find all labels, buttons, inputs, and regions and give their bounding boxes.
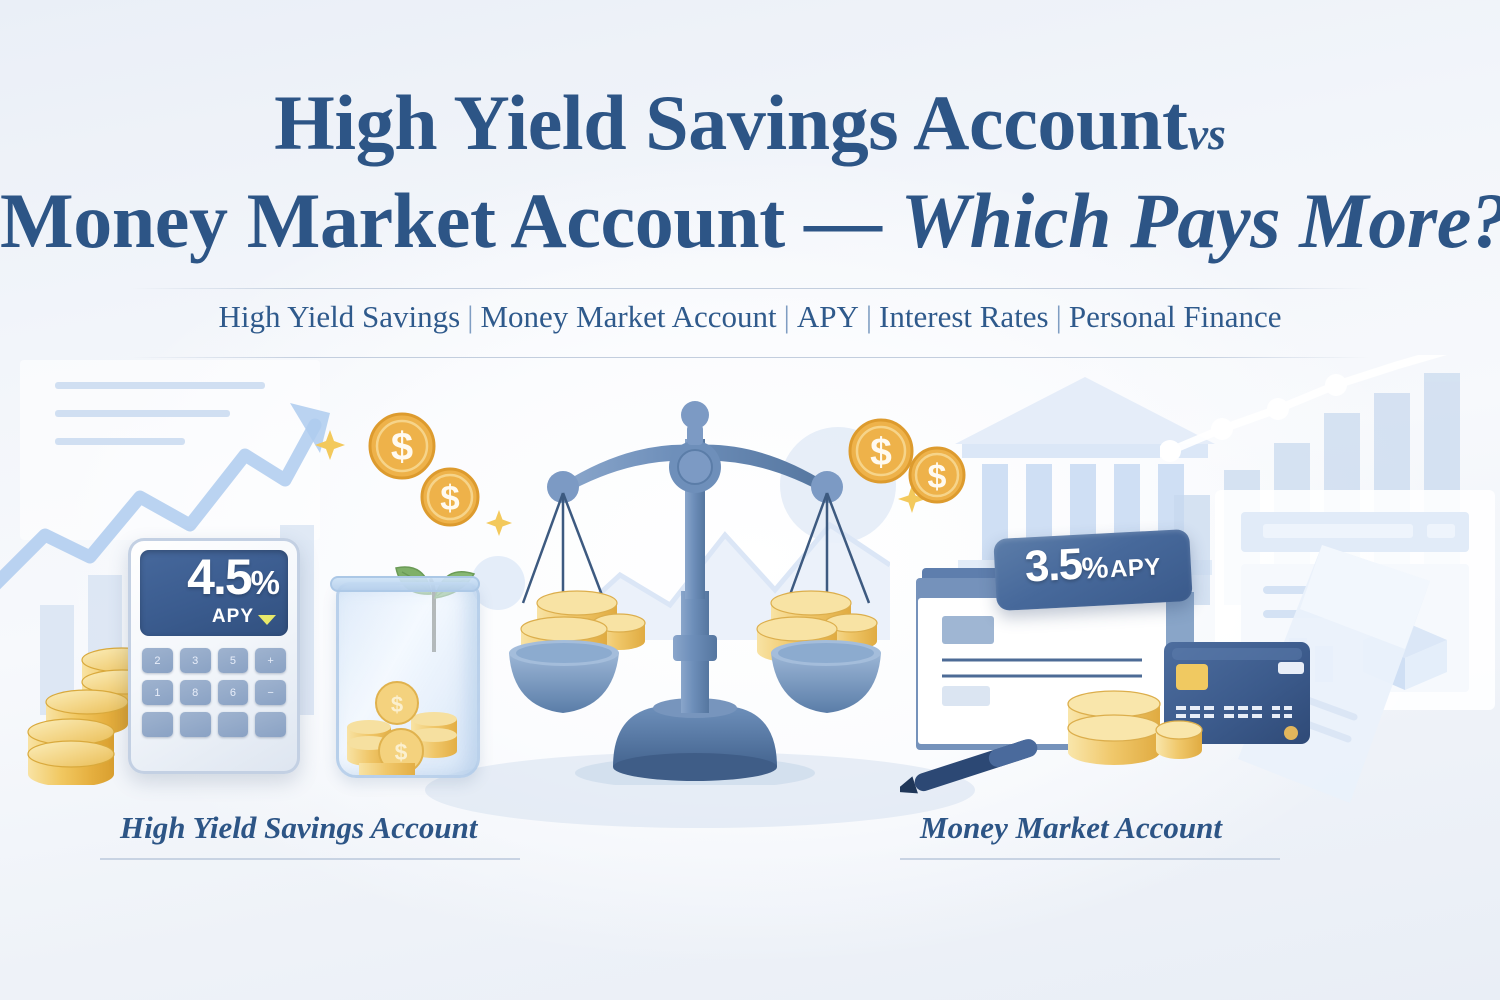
rate-tablet-panel: 3.5%APY [993, 529, 1192, 611]
calculator-apy-label: APY [212, 606, 254, 628]
dollar-coin-icon: $ [848, 418, 914, 484]
infographic-canvas: High Yield Savings Accountvs Money Marke… [0, 0, 1500, 1000]
calculator-screen: 4.5% APY [140, 550, 288, 636]
tagline-rule-bottom [130, 357, 1370, 358]
calculator-rate-display: 4.5% [140, 552, 278, 602]
chevron-down-icon [256, 612, 278, 628]
right-caption-underline [900, 858, 1280, 860]
jar-lid-rim [330, 576, 480, 592]
tag-sep-1: | [777, 299, 797, 334]
calc-key[interactable] [218, 712, 249, 737]
title-main-1: High Yield Savings Account [274, 79, 1188, 166]
tag-item-3: Interest Rates [879, 299, 1049, 334]
svg-text:$: $ [870, 431, 892, 474]
tag-item-2: APY [797, 299, 859, 334]
calc-key[interactable]: 6 [218, 680, 249, 705]
tag-sep-3: | [1049, 299, 1069, 334]
svg-text:$: $ [928, 458, 947, 496]
right-caption: Money Market Account [920, 810, 1222, 846]
tagline-rule-top [130, 288, 1370, 289]
page-title-line-2: Money Market Account — Which Pays More? [0, 182, 1500, 260]
left-caption-underline [100, 858, 520, 860]
calc-key[interactable]: 1 [142, 680, 173, 705]
balance-scale-icon [495, 395, 895, 785]
money-market-rate-tablet[interactable]: 3.5%APY [993, 529, 1192, 611]
dollar-coin-icon: $ [908, 446, 966, 504]
calc-key[interactable]: − [255, 680, 286, 705]
svg-text:$: $ [391, 425, 413, 469]
tablet-rate-value: 3.5 [1024, 540, 1083, 592]
tablet-rate-percent: % [1081, 551, 1108, 585]
jar-glass: $ $ [336, 582, 480, 778]
calculator-rate-percent: % [251, 564, 278, 601]
tag-sep-2: | [859, 299, 879, 334]
rate-tablet-text: 3.5%APY [994, 537, 1192, 591]
svg-text:$: $ [440, 479, 459, 518]
calculator-keypad[interactable]: 2 3 5 + 1 8 6 − [142, 648, 286, 737]
calculator-widget[interactable]: 4.5% APY 2 3 5 + 1 8 6 − [128, 538, 300, 774]
calc-key[interactable] [142, 712, 173, 737]
calc-key[interactable]: + [255, 648, 286, 673]
calc-key[interactable] [180, 712, 211, 737]
calculator-rate-value: 4.5 [187, 550, 251, 605]
calc-key[interactable] [255, 712, 286, 737]
jar-coins-icon: $ $ [339, 663, 477, 775]
tag-item-1: Money Market Account [480, 299, 776, 334]
calc-key[interactable]: 3 [180, 648, 211, 673]
tagline: High Yield Savings|Money Market Account|… [0, 299, 1500, 335]
tag-item-0: High Yield Savings [219, 299, 461, 334]
tag-sep-0: | [460, 299, 480, 334]
calc-key[interactable]: 8 [180, 680, 211, 705]
title-dash: — [804, 177, 882, 264]
tag-item-4: Personal Finance [1069, 299, 1282, 334]
tablet-apy-label: APY [1109, 553, 1161, 583]
title-vs: vs [1188, 108, 1226, 159]
left-caption: High Yield Savings Account [120, 810, 477, 846]
svg-text:$: $ [395, 739, 408, 765]
background-document-lines-icon [20, 360, 320, 540]
page-title-line-1: High Yield Savings Accountvs [0, 84, 1500, 162]
svg-text:$: $ [391, 692, 403, 717]
dollar-coin-icon: $ [420, 467, 480, 527]
header: High Yield Savings Accountvs Money Marke… [0, 0, 1500, 260]
sparkle-icon [315, 430, 345, 460]
savings-jar: $ $ [330, 560, 480, 775]
calc-key[interactable]: 2 [142, 648, 173, 673]
title-question: Which Pays More? [901, 177, 1500, 264]
title-main-2: Money Market Account [0, 177, 785, 264]
calc-key[interactable]: 5 [218, 648, 249, 673]
